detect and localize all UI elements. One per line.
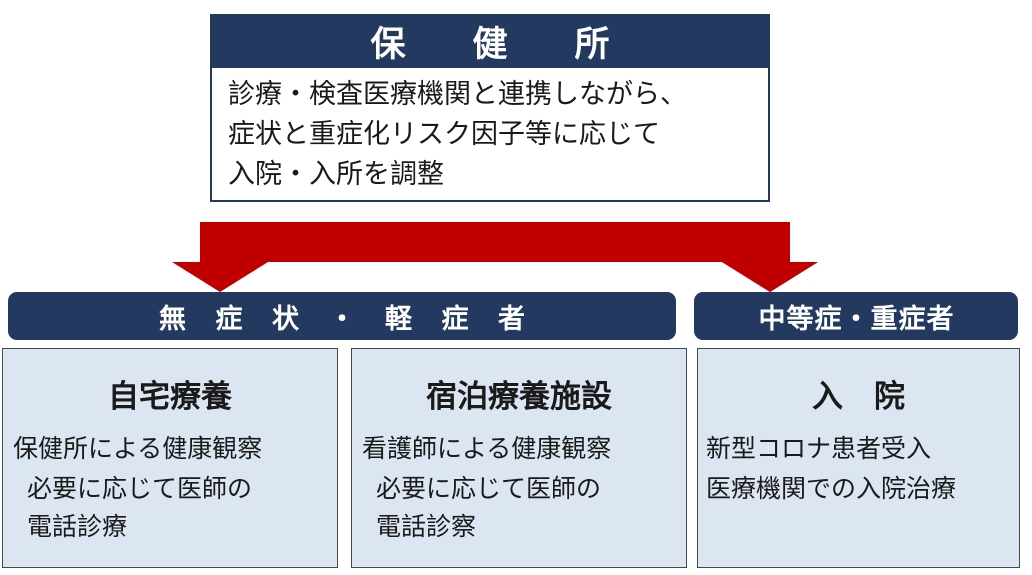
card-line: 電話診察 <box>376 508 678 546</box>
card-line: 新型コロナ患者受入 <box>706 430 1011 468</box>
card-line: 電話診療 <box>27 508 329 546</box>
public-health-center-box: 保 健 所 診療・検査医療機関と連携しながら、 症状と重症化リスク因子等に応じて… <box>210 14 770 202</box>
card-body: 新型コロナ患者受入 医療機関での入院治療 <box>706 430 1011 508</box>
description-line: 診療・検査医療機関と連携しながら、 <box>228 74 758 114</box>
card-title: 自宅療養 <box>11 371 329 416</box>
description-line: 入院・入所を調整 <box>228 154 758 194</box>
card-paragraph: 医療機関での入院治療 <box>706 470 1011 508</box>
group-header-mild: 無 症 状 ・ 軽 症 者 <box>8 292 676 340</box>
card-paragraph: 新型コロナ患者受入 <box>706 430 1011 468</box>
card-body: 看護師による健康観察 必要に応じて医師の 電話診察 <box>360 430 678 546</box>
card-home-recuperation: 自宅療養 保健所による健康観察 必要に応じて医師の 電話診療 <box>2 348 338 568</box>
card-line: 保健所による健康観察 <box>13 430 329 468</box>
card-paragraph: 看護師による健康観察 <box>362 430 678 468</box>
card-title: 入 院 <box>706 371 1011 416</box>
card-line: 看護師による健康観察 <box>362 430 678 468</box>
public-health-center-description: 診療・検査医療機関と連携しながら、 症状と重症化リスク因子等に応じて 入院・入所… <box>210 68 770 202</box>
card-paragraph: 保健所による健康観察 <box>13 430 329 468</box>
card-hospitalization: 入 院 新型コロナ患者受入 医療機関での入院治療 <box>697 348 1020 568</box>
public-health-center-title: 保 健 所 <box>210 14 770 68</box>
description-line: 症状と重症化リスク因子等に応じて <box>228 114 758 154</box>
split-down-arrow <box>0 200 1032 295</box>
card-line: 医療機関での入院治療 <box>706 470 1011 508</box>
card-line: 必要に応じて医師の <box>376 470 678 508</box>
card-paragraph: 必要に応じて医師の 電話診療 <box>13 470 329 546</box>
card-body: 保健所による健康観察 必要に応じて医師の 電話診療 <box>11 430 329 546</box>
card-title: 宿泊療養施設 <box>360 371 678 416</box>
group-header-severe: 中等症・重症者 <box>694 292 1018 340</box>
card-line: 必要に応じて医師の <box>27 470 329 508</box>
card-lodging-facility: 宿泊療養施設 看護師による健康観察 必要に応じて医師の 電話診察 <box>351 348 687 568</box>
card-paragraph: 必要に応じて医師の 電話診察 <box>362 470 678 546</box>
